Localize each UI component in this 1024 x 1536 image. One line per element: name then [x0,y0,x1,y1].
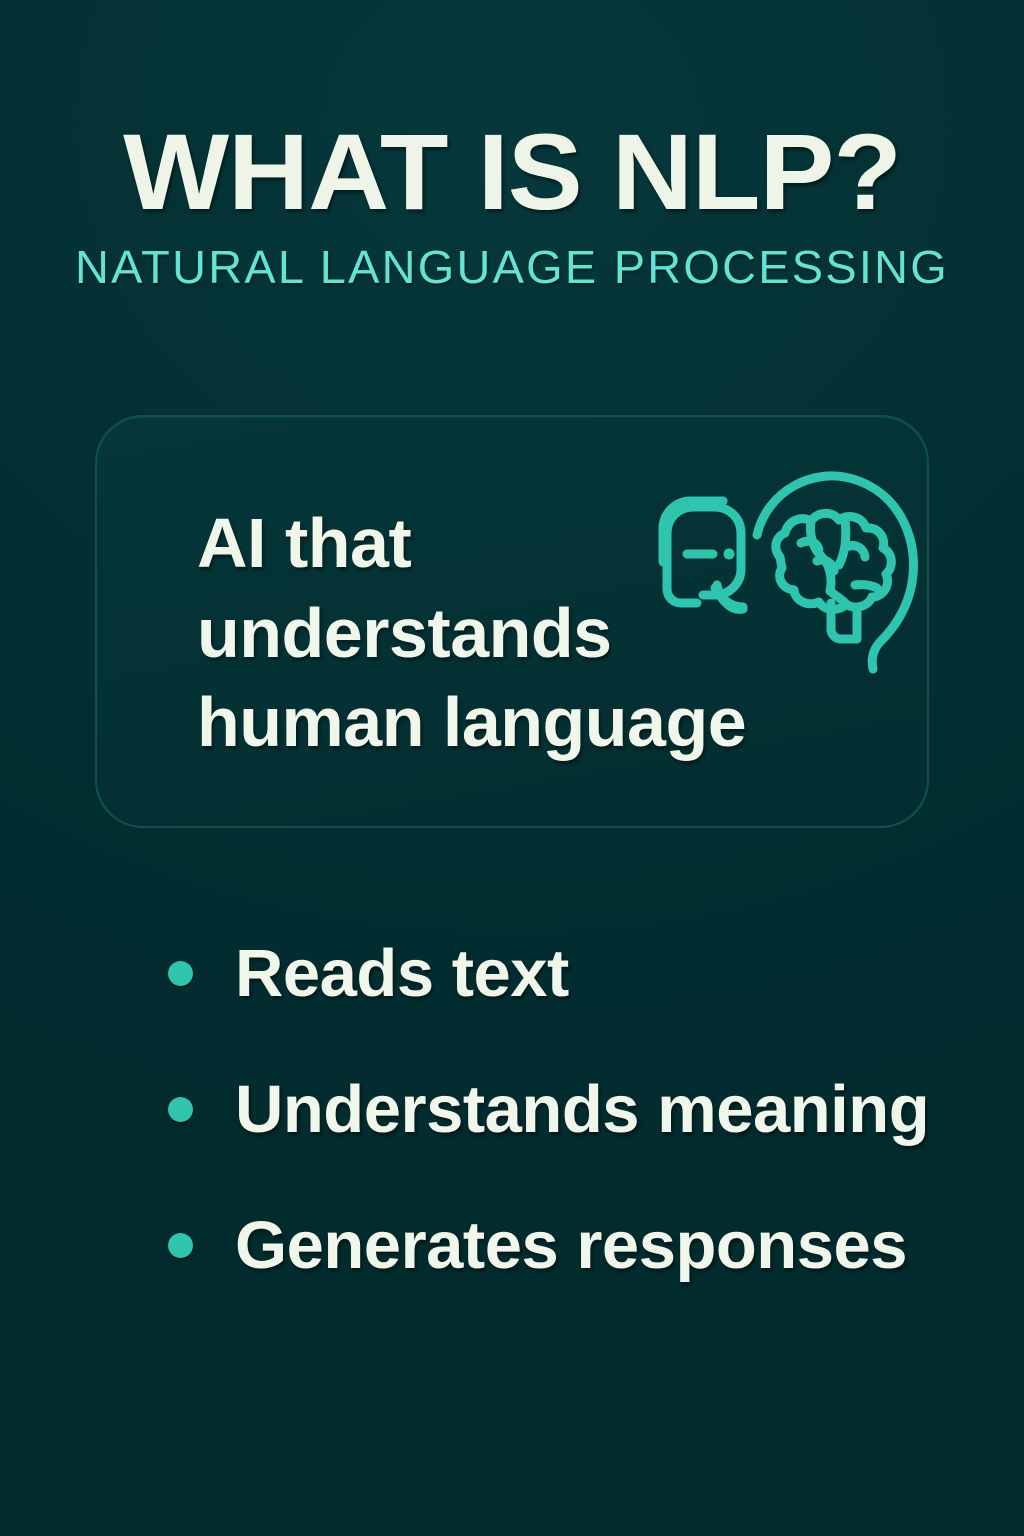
list-item: Understands meaning [168,1041,964,1177]
list-item-label: Understands meaning [235,1076,929,1143]
speech-bubble-and-brain-head-icon [605,457,935,697]
definition-card: AI that understands human language [95,415,929,828]
bullet-dot-icon [168,961,193,986]
list-item: Generates responses [168,1177,964,1313]
list-item-label: Generates responses [235,1212,907,1279]
list-item: Reads text [168,905,964,1041]
definition-card-inner: AI that understands human language [97,417,927,826]
page-title: WHAT IS NLP? [0,118,1024,226]
feature-list: Reads text Understands meaning Generates… [168,905,964,1313]
page-subtitle: NATURAL LANGUAGE PROCESSING [0,244,1024,290]
bullet-dot-icon [168,1233,193,1258]
header: WHAT IS NLP? NATURAL LANGUAGE PROCESSING [0,118,1024,290]
bullet-dot-icon [168,1097,193,1122]
nlp-infographic-poster: WHAT IS NLP? NATURAL LANGUAGE PROCESSING… [0,0,1024,1536]
list-item-label: Reads text [235,940,569,1007]
